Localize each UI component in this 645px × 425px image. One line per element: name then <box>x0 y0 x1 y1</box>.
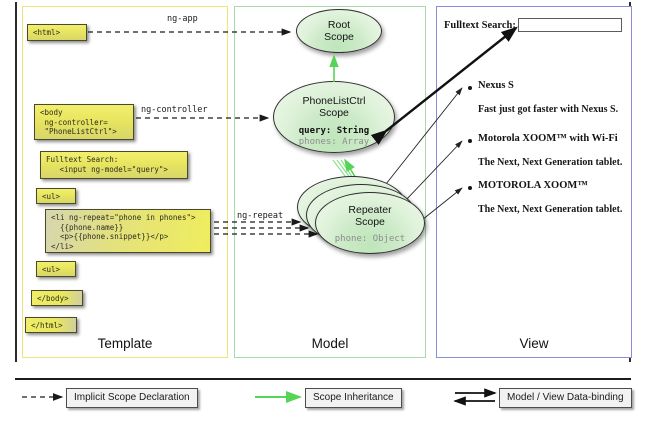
view-item-snippet: Fast just got faster with Nexus S. <box>478 104 618 115</box>
code-box-html-open: <html> <box>27 24 87 41</box>
scope-root-line2: Scope <box>297 31 381 43</box>
view-item-name: MOTOROLA XOOM™ <box>478 180 588 191</box>
panel-title-template: Template <box>23 336 227 351</box>
view-item-snippet: The Next, Next Generation tablet. <box>478 204 622 215</box>
scope-root: Root Scope <box>296 9 382 53</box>
scope-phone-list-ctrl: PhoneListCtrl Scope query: String phones… <box>273 81 395 153</box>
edge-label-ng-app: ng-app <box>167 14 198 24</box>
list-bullet <box>468 86 472 90</box>
code-box-fulltext-search: Fulltext Search: <input ng-model="query"… <box>40 151 188 179</box>
edge-label-ng-repeat: ng-repeat <box>237 211 283 221</box>
scope-phone-list-ctrl-line2: Scope <box>274 107 394 119</box>
view-item-snippet: The Next, Next Generation tablet. <box>478 157 622 168</box>
code-box-html-close: </html> <box>25 317 77 333</box>
panel-title-view: View <box>437 336 631 351</box>
edge-label-ng-controller: ng-controller <box>141 105 208 115</box>
legend-divider <box>15 378 631 380</box>
scope-prop-phones: phones: Array <box>274 137 394 148</box>
code-box-body-close: </body> <box>31 290 83 306</box>
view-search-label: Fulltext Search: <box>444 20 516 31</box>
code-box-body-open: <body ng-controller= "PhoneListCtrl"> <box>34 104 134 140</box>
scope-root-line1: Root <box>297 19 381 31</box>
legend-label-model-view-data-binding: Model / View Data-binding <box>499 388 632 408</box>
legend-label-implicit-scope-declaration: Implicit Scope Declaration <box>66 388 198 408</box>
page-frame-left-rule <box>15 2 17 362</box>
view-item-name: Nexus S <box>478 80 514 91</box>
legend-label-scope-inheritance: Scope Inheritance <box>305 388 402 408</box>
legend-arrow-databinding <box>455 393 495 401</box>
panel-title-model: Model <box>235 336 425 351</box>
scope-repeater-line2: Scope <box>316 216 424 228</box>
scope-repeater: Repeater Scope phone: Object <box>315 192 425 254</box>
code-box-li-ng-repeat: <li ng-repeat="phone in phones"> {{phone… <box>45 209 211 253</box>
fulltext-search-input[interactable] <box>518 18 622 32</box>
scope-prop-query: query: String <box>274 126 394 137</box>
code-box-ul-close: <ul> <box>36 261 76 277</box>
view-item-name: Motorola XOOM™ with Wi-Fi <box>478 133 618 144</box>
list-bullet <box>468 186 472 190</box>
scope-repeater-line1: Repeater <box>316 204 424 216</box>
code-box-ul-open: <ul> <box>36 188 76 204</box>
scope-phone-list-ctrl-line1: PhoneListCtrl <box>274 95 394 107</box>
diagram-canvas: Template Model View <html> <body ng-cont… <box>0 0 645 425</box>
list-bullet <box>468 139 472 143</box>
scope-prop-phone: phone: Object <box>316 234 424 245</box>
